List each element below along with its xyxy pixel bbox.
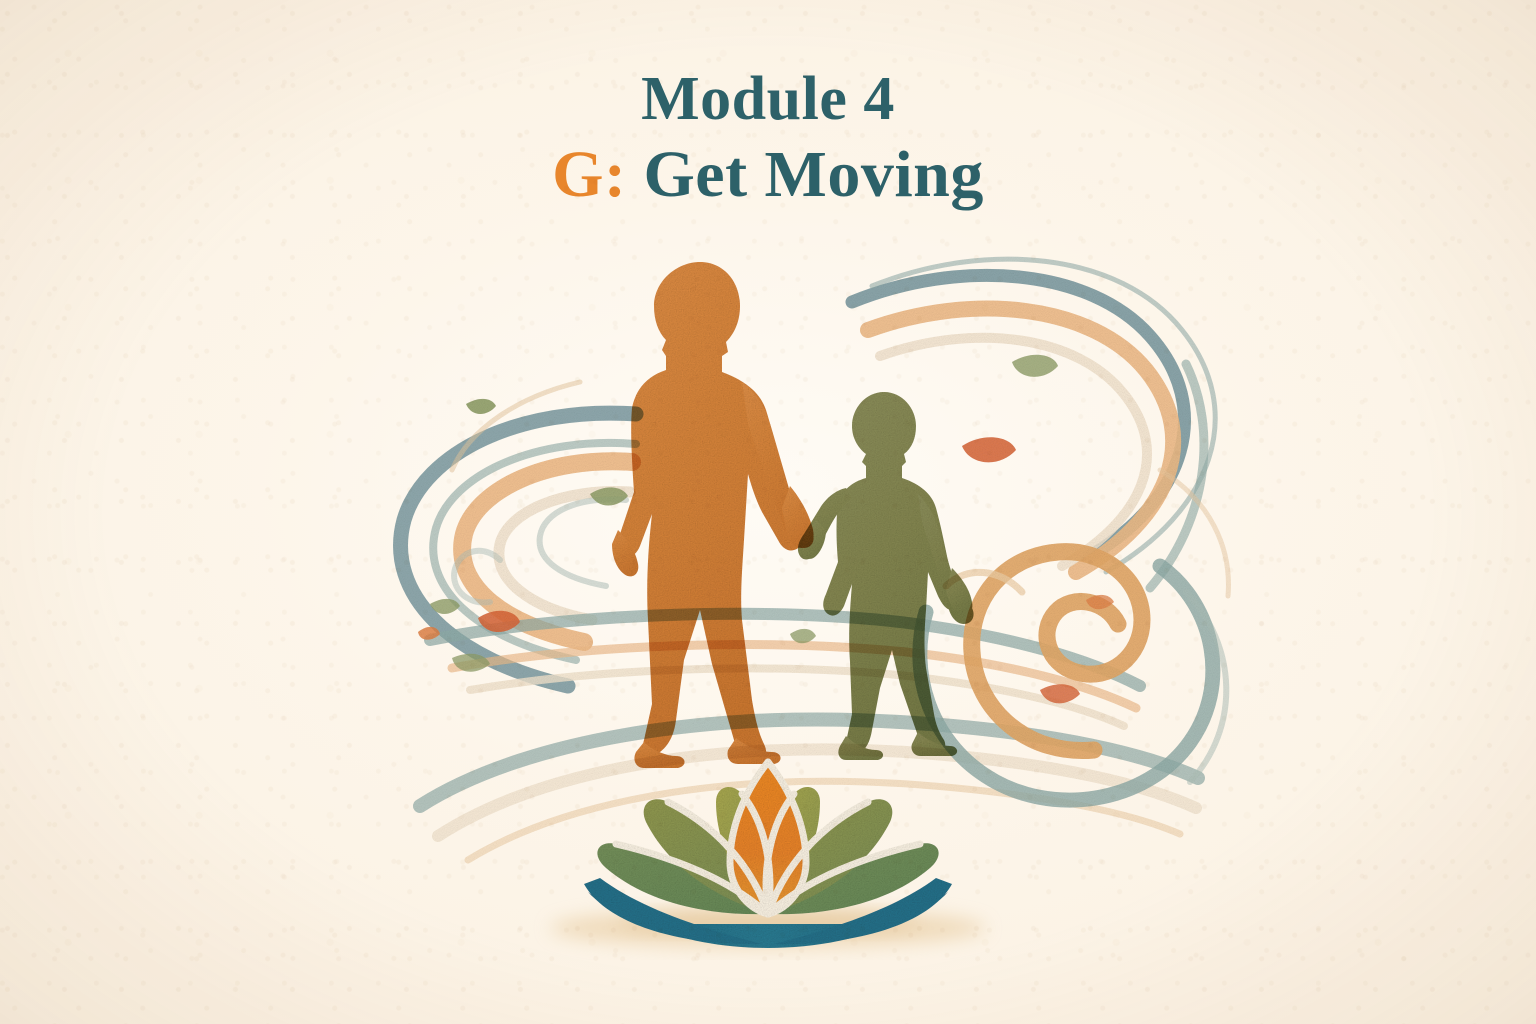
adult-figure	[612, 262, 814, 768]
title-line-2-rest: Get Moving	[643, 138, 983, 211]
drifting-leaf	[466, 399, 496, 414]
drifting-leaves	[418, 355, 1114, 704]
drifting-leaf	[1012, 355, 1058, 377]
title-block: Module 4 G: Get Moving	[0, 66, 1536, 210]
swirl-field	[401, 259, 1229, 860]
page-title-line-2: G: Get Moving	[0, 139, 1536, 210]
title-accent-letter: G:	[552, 138, 626, 211]
drifting-leaf	[962, 437, 1016, 462]
page-title-line-1: Module 4	[0, 66, 1536, 133]
title-card: Module 4 G: Get Moving	[0, 0, 1536, 1024]
child-figure	[798, 392, 974, 760]
